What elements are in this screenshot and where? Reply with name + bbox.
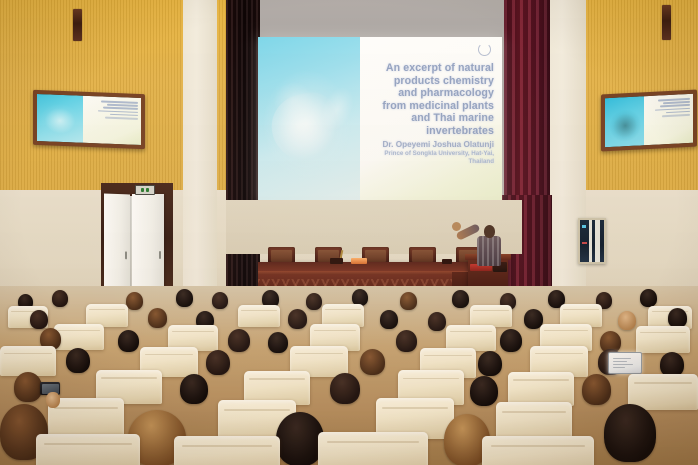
audience-member [118, 330, 139, 352]
stage-curtain-left [226, 0, 260, 300]
emergency-exit-sign-icon [135, 185, 155, 195]
audience-member [148, 308, 167, 328]
presenting-speaker [477, 236, 501, 266]
right-wall-monitor [601, 89, 697, 151]
table-object [330, 258, 343, 264]
audience-seat [36, 434, 140, 465]
audience-member [470, 376, 498, 406]
slide-title-line: from medicinal plants [364, 100, 494, 113]
slide-affiliation-line: Thailand [364, 158, 494, 165]
monitor-photo-area [37, 94, 83, 143]
audience-member [604, 404, 656, 462]
audience-member [126, 292, 143, 310]
slide-title-line: and pharmacology [364, 87, 494, 100]
table-object [442, 259, 452, 264]
audience-member [52, 290, 68, 307]
table-name-card [351, 258, 367, 264]
slide-title-line: and Thai marine [364, 112, 494, 125]
audience-member [360, 349, 385, 375]
audience-member [288, 309, 307, 329]
audience-member [582, 374, 611, 405]
slide-title-line: invertebrates [364, 125, 494, 138]
audience-member [428, 312, 446, 331]
audience-member [268, 332, 288, 353]
audience-seat [54, 324, 104, 350]
open-double-door[interactable] [104, 194, 130, 293]
left-wall-monitor [33, 90, 145, 149]
audience-member [180, 374, 208, 404]
audience-member [500, 329, 522, 352]
slide-affiliation-line: Prince of Songkla University, Hat-Yai, [364, 150, 494, 157]
audience-member [306, 293, 322, 310]
audience-member [30, 310, 48, 329]
audience-member [668, 308, 687, 328]
audience-seat [238, 305, 280, 327]
slide-title: An excerpt of natural products chemistry… [364, 62, 494, 138]
audience-member [330, 373, 360, 404]
pilaster-left [183, 0, 217, 300]
audience-seat [48, 398, 124, 438]
slide-text-panel: An excerpt of natural products chemistry… [360, 37, 502, 205]
speaker-hand [452, 222, 461, 231]
audience-member [66, 348, 90, 373]
audience-member [212, 292, 228, 309]
slide-logo-icon [478, 43, 491, 56]
audience-seat [470, 305, 512, 327]
audience-seat [482, 436, 594, 465]
slide-title-line: An excerpt of natural [364, 62, 494, 75]
lecture-hall-photo: An excerpt of natural products chemistry… [0, 0, 698, 465]
audience-member [478, 351, 502, 376]
audience-member [228, 329, 250, 352]
slide-title-line: products chemistry [364, 75, 494, 88]
audience-member [276, 412, 324, 465]
audience-hand [46, 392, 60, 408]
audience-member [14, 372, 42, 402]
audience-seat [636, 326, 690, 353]
slide-author: Dr. Opeyemi Joshua Olatunji [364, 140, 494, 149]
wall-accent-slot [73, 9, 82, 41]
audience-member [206, 350, 230, 375]
audience-member [452, 290, 469, 308]
audience-member [640, 289, 657, 307]
wall-accent-slot [662, 5, 671, 40]
monitor-text-area [644, 94, 693, 146]
audience-seat [174, 436, 280, 465]
audience-seat [508, 372, 574, 406]
monitor-photo-area [605, 96, 644, 147]
audience-seat [318, 432, 428, 465]
audience-member [400, 292, 417, 310]
slide-photo [258, 37, 360, 205]
open-double-door[interactable] [132, 194, 164, 293]
audience-member [176, 289, 193, 307]
audience-member [396, 330, 417, 352]
monitor-text-area [83, 96, 141, 145]
speaker-head [484, 225, 495, 238]
audience-member [618, 311, 636, 330]
audience-laptop[interactable] [608, 352, 640, 376]
wall-mounted-control-display[interactable] [578, 218, 606, 264]
projection-screen: An excerpt of natural products chemistry… [258, 37, 502, 205]
audience-seating-area [0, 286, 698, 465]
audience-member [380, 310, 398, 329]
